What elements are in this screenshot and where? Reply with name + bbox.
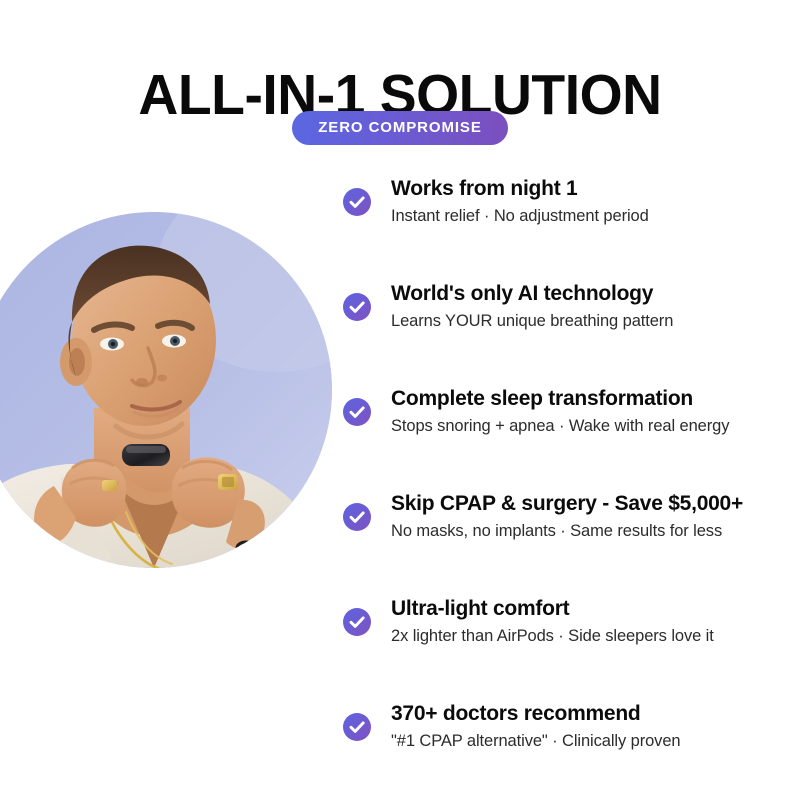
feature-item-complete-sleep-transformation: Complete sleep transformation Stops snor… bbox=[343, 386, 793, 448]
check-circle-icon bbox=[343, 713, 371, 741]
check-circle-icon bbox=[343, 608, 371, 636]
feature-subtitle: Stops snoring + apnea · Wake with real e… bbox=[391, 415, 793, 437]
feature-subtitle: Instant relief · No adjustment period bbox=[391, 205, 793, 227]
feature-item-370-doctors-recommend: 370+ doctors recommend "#1 CPAP alternat… bbox=[343, 701, 793, 763]
promo-page: ALL-IN-1 SOLUTION ZERO COMPROMISE bbox=[0, 0, 800, 800]
feature-item-skip-cpap-and-surgery: Skip CPAP & surgery - Save $5,000+ No ma… bbox=[343, 491, 793, 553]
feature-item-worlds-only-ai-technology: World's only AI technology Learns YOUR u… bbox=[343, 281, 793, 343]
feature-title: 370+ doctors recommend bbox=[391, 701, 793, 727]
badge-container: ZERO COMPROMISE bbox=[0, 111, 800, 145]
feature-title: Skip CPAP & surgery - Save $5,000+ bbox=[391, 491, 793, 517]
zero-compromise-badge: ZERO COMPROMISE bbox=[292, 111, 508, 145]
feature-item-ultra-light-comfort: Ultra-light comfort 2x lighter than AirP… bbox=[343, 596, 793, 658]
feature-item-works-from-night-1: Works from night 1 Instant relief · No a… bbox=[343, 176, 793, 238]
feature-subtitle: "#1 CPAP alternative" · Clinically prove… bbox=[391, 730, 793, 752]
check-circle-icon bbox=[343, 503, 371, 531]
product-photo bbox=[0, 212, 332, 568]
feature-title: World's only AI technology bbox=[391, 281, 793, 307]
check-circle-icon bbox=[343, 293, 371, 321]
product-photo-image bbox=[0, 212, 332, 568]
feature-title: Works from night 1 bbox=[391, 176, 793, 202]
feature-title: Ultra-light comfort bbox=[391, 596, 793, 622]
check-circle-icon bbox=[343, 398, 371, 426]
feature-list: Works from night 1 Instant relief · No a… bbox=[343, 176, 793, 763]
feature-subtitle: No masks, no implants · Same results for… bbox=[391, 520, 793, 542]
feature-subtitle: 2x lighter than AirPods · Side sleepers … bbox=[391, 625, 793, 647]
feature-subtitle: Learns YOUR unique breathing pattern bbox=[391, 310, 793, 332]
check-circle-icon bbox=[343, 188, 371, 216]
feature-title: Complete sleep transformation bbox=[391, 386, 793, 412]
